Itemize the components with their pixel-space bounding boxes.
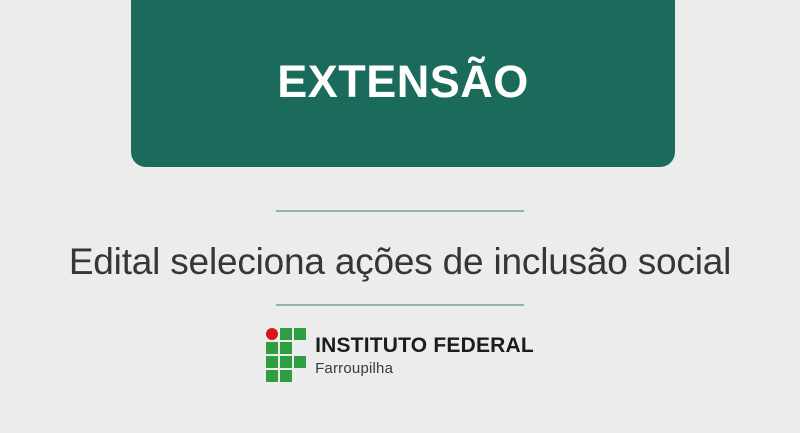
- category-banner: EXTENSÃO: [131, 0, 675, 167]
- divider-bottom: [276, 304, 524, 306]
- logo-mark-square: [280, 328, 292, 340]
- logo-mark-dot: [266, 328, 278, 340]
- logo-mark-square: [266, 356, 278, 368]
- headline: Edital seleciona ações de inclusão socia…: [0, 236, 800, 288]
- logo-mark-square: [280, 342, 292, 354]
- divider-top: [276, 210, 524, 212]
- announcement-card: EXTENSÃO Edital seleciona ações de inclu…: [0, 0, 800, 433]
- logo-mark-square: [294, 356, 306, 368]
- logo-mark-square: [280, 370, 292, 382]
- category-title: EXTENSÃO: [277, 59, 529, 108]
- logo-mark-gap: [294, 342, 306, 354]
- instituto-federal-mark-icon: [266, 328, 306, 382]
- logo-mark-square: [266, 342, 278, 354]
- logo-institution-name: INSTITUTO FEDERAL: [315, 335, 534, 356]
- logo-mark-gap: [294, 370, 306, 382]
- logo-mark-square: [280, 356, 292, 368]
- logo-mark-square: [294, 328, 306, 340]
- institutional-logo: INSTITUTO FEDERAL Farroupilha: [0, 328, 800, 382]
- logo-mark-square: [266, 370, 278, 382]
- logo-campus-name: Farroupilha: [315, 361, 534, 376]
